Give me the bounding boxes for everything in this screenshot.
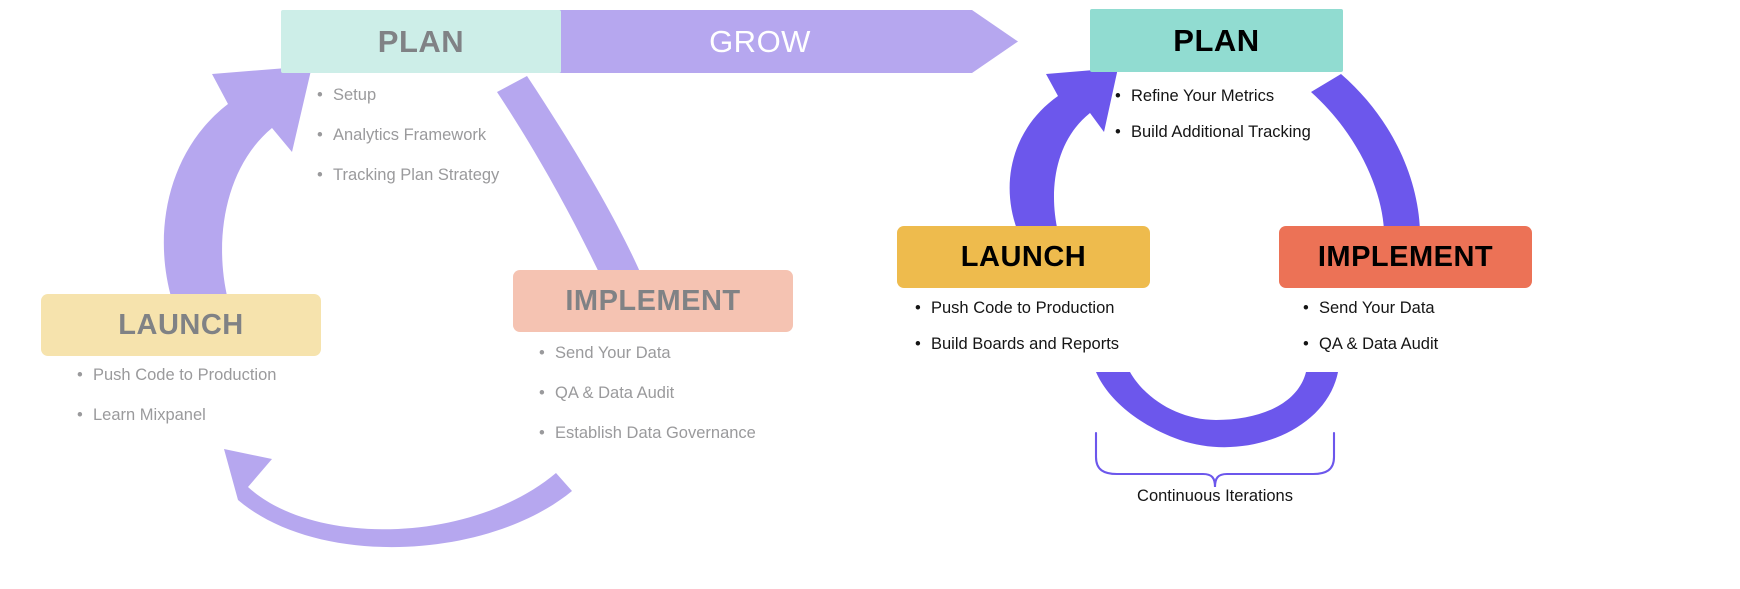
list-item: • Send Your Data [539, 344, 756, 363]
left-implement-node[interactable]: IMPLEMENT • Send Your Data • QA & Data A… [513, 270, 793, 332]
left-plan-title: PLAN [281, 10, 561, 73]
right-implement-bullets: • Send Your Data • QA & Data Audit [1303, 299, 1438, 371]
list-item-label: Push Code to Production [93, 366, 276, 385]
list-item: • Setup [317, 86, 499, 105]
bullet-icon: • [1115, 87, 1131, 106]
right-plan-node[interactable]: PLAN • Refine Your Metrics • Build Addit… [1090, 9, 1343, 72]
bullet-icon: • [915, 335, 931, 354]
list-item: • Refine Your Metrics [1115, 87, 1311, 106]
list-item: • Send Your Data [1303, 299, 1438, 318]
list-item: • QA & Data Audit [539, 384, 756, 403]
bullet-icon: • [915, 299, 931, 318]
right-launch-title: LAUNCH [897, 226, 1150, 288]
list-item: • Learn Mixpanel [77, 406, 276, 425]
right-launch-node[interactable]: LAUNCH • Push Code to Production • Build… [897, 226, 1150, 288]
right-implement-title: IMPLEMENT [1279, 226, 1532, 288]
list-item-label: Establish Data Governance [555, 424, 756, 443]
bullet-icon: • [1115, 123, 1131, 142]
bullet-icon: • [317, 166, 333, 185]
list-item-label: Send Your Data [555, 344, 671, 363]
list-item-label: QA & Data Audit [1319, 335, 1438, 354]
list-item-label: Refine Your Metrics [1131, 87, 1274, 106]
list-item-label: Send Your Data [1319, 299, 1435, 318]
bullet-icon: • [317, 126, 333, 145]
list-item-label: Push Code to Production [931, 299, 1114, 318]
continuous-iterations-label: Continuous Iterations [1085, 487, 1345, 506]
list-item-label: Setup [333, 86, 376, 105]
list-item-label: Build Additional Tracking [1131, 123, 1311, 142]
list-item-label: Tracking Plan Strategy [333, 166, 499, 185]
list-item: • Push Code to Production [915, 299, 1119, 318]
left-launch-bullets: • Push Code to Production • Learn Mixpan… [77, 366, 276, 446]
list-item: • QA & Data Audit [1303, 335, 1438, 354]
list-item: • Tracking Plan Strategy [317, 166, 499, 185]
diagram-canvas: GROW PLAN • Setup • Analytics Framework … [0, 0, 1740, 589]
list-item: • Establish Data Governance [539, 424, 756, 443]
left-arrow-launch-to-plan [164, 66, 312, 300]
right-arrow-plan-to-implement [1311, 74, 1420, 230]
right-plan-title: PLAN [1090, 9, 1343, 72]
right-arrow-implement-to-launch [1096, 372, 1338, 447]
list-item-label: Analytics Framework [333, 126, 486, 145]
left-plan-bullets: • Setup • Analytics Framework • Tracking… [317, 86, 499, 206]
left-arrow-plan-to-implement [497, 76, 640, 283]
right-implement-node[interactable]: IMPLEMENT • Send Your Data • QA & Data A… [1279, 226, 1532, 288]
bullet-icon: • [77, 406, 93, 425]
bullet-icon: • [1303, 335, 1319, 354]
list-item: • Build Boards and Reports [915, 335, 1119, 354]
left-launch-title: LAUNCH [41, 294, 321, 356]
right-arrow-launch-to-plan [1010, 68, 1118, 232]
list-item: • Push Code to Production [77, 366, 276, 385]
list-item-label: Build Boards and Reports [931, 335, 1119, 354]
bullet-icon: • [539, 424, 555, 443]
bullet-icon: • [77, 366, 93, 385]
left-plan-node[interactable]: PLAN • Setup • Analytics Framework • Tra… [281, 10, 561, 73]
bullet-icon: • [539, 384, 555, 403]
right-plan-bullets: • Refine Your Metrics • Build Additional… [1115, 87, 1311, 159]
list-item-label: QA & Data Audit [555, 384, 674, 403]
right-launch-bullets: • Push Code to Production • Build Boards… [915, 299, 1119, 371]
bullet-icon: • [317, 86, 333, 105]
left-arrow-implement-to-launch [224, 449, 572, 547]
left-implement-bullets: • Send Your Data • QA & Data Audit • Est… [539, 344, 756, 464]
list-item: • Analytics Framework [317, 126, 499, 145]
grow-banner-arrow [520, 10, 1018, 73]
left-launch-node[interactable]: LAUNCH • Push Code to Production • Learn… [41, 294, 321, 356]
left-implement-title: IMPLEMENT [513, 270, 793, 332]
list-item-label: Learn Mixpanel [93, 406, 206, 425]
list-item: • Build Additional Tracking [1115, 123, 1311, 142]
bullet-icon: • [1303, 299, 1319, 318]
bullet-icon: • [539, 344, 555, 363]
